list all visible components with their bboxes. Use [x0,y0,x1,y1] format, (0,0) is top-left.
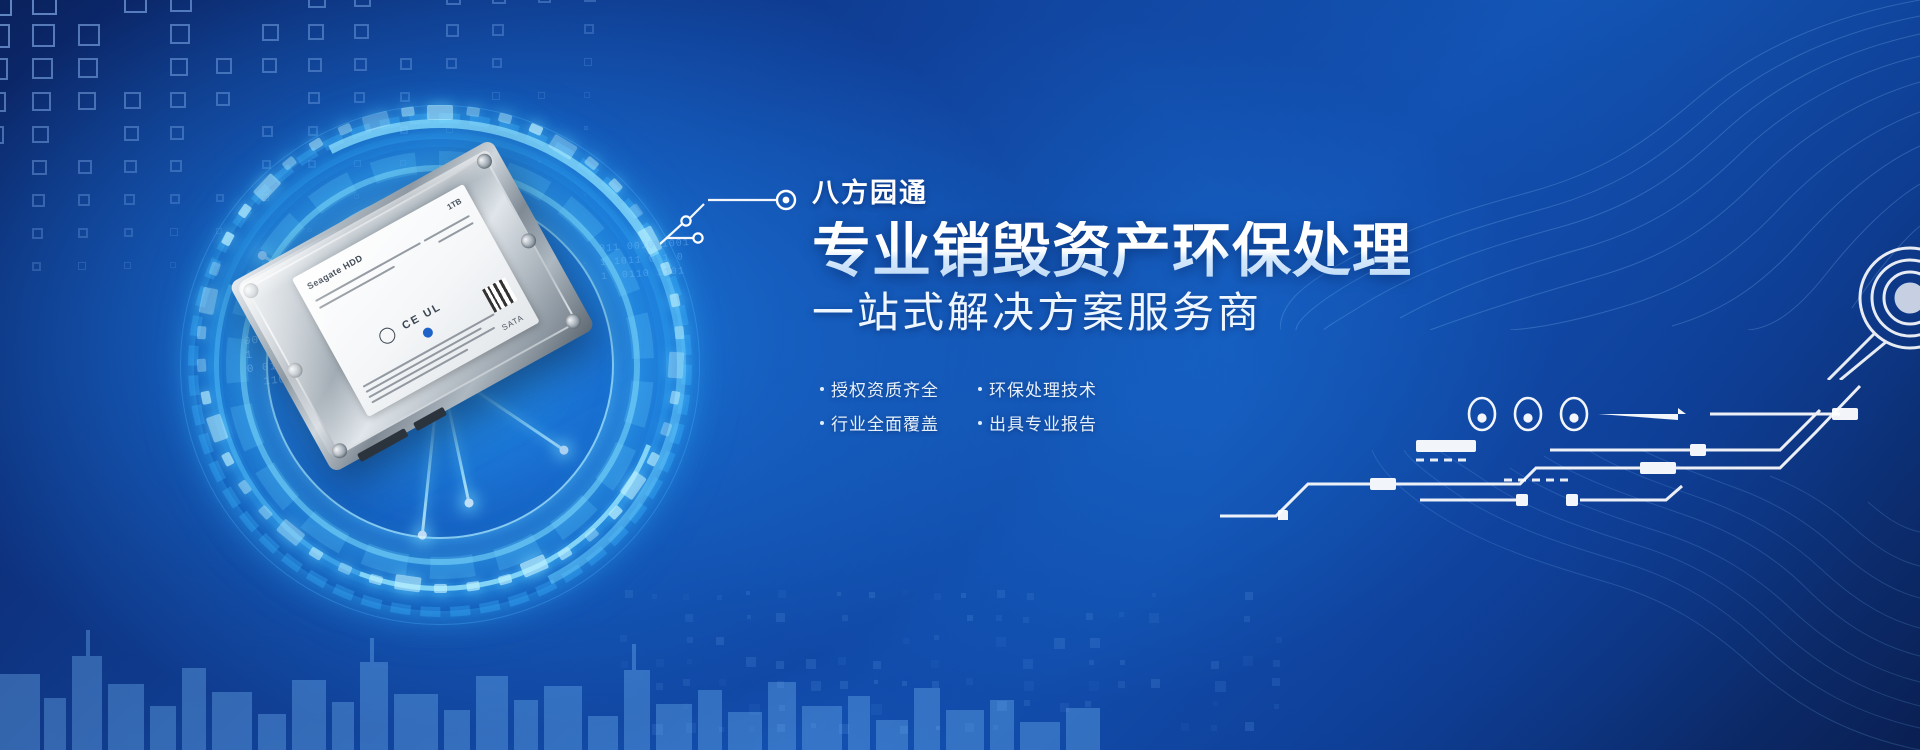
pixel-square [902,590,907,595]
headline: 专业销毁资产环保处理 [812,221,1572,282]
pixel-square [900,726,908,734]
connector-line-graphic [660,178,820,248]
pixel-square [656,659,664,667]
grid-square [492,92,500,100]
grid-square [262,58,277,73]
pixel-square [719,679,726,686]
pixel-square [965,723,974,732]
grid-square [400,92,410,102]
grid-square [0,58,8,80]
bullet-dot-icon [978,421,982,425]
pixel-square [717,595,722,600]
grid-square [32,262,41,271]
grid-square [354,24,369,39]
grid-square [446,0,461,5]
pixel-square [1181,723,1189,731]
pixel-square [687,659,692,664]
subheadline: 一站式解决方案服务商 [812,290,1572,336]
disc-ring-graphic [1820,240,1920,380]
pixel-square [842,615,848,621]
grid-square [308,24,324,40]
pixel-square [1152,593,1156,597]
bullet-dot-icon [820,387,824,391]
pixel-square [652,724,663,735]
feature-bullet-2-label: 环保处理技术 [989,376,1097,401]
pixel-square [869,592,875,598]
pixel-square [1245,592,1253,600]
pixel-square [1119,612,1124,617]
grid-square [124,262,131,269]
grid-square [170,262,176,268]
grid-square [32,58,53,79]
grid-square [446,58,457,69]
grid-square [0,0,12,16]
ring-tick [196,326,206,340]
pixel-square [838,657,846,665]
pixel-square [932,681,939,688]
pixel-square [934,593,941,600]
feature-bullet-3: 行业全面覆盖 [820,407,960,439]
pixel-square [746,591,750,595]
grid-square [308,58,322,72]
pixel-square [778,590,786,598]
pixel-square [996,615,1002,621]
ring-tick [466,106,480,117]
pixel-square [683,679,690,686]
grid-square [124,228,133,237]
pixel-square [686,723,696,733]
ring-tick [466,581,480,592]
pixel-square [777,681,784,688]
ring-tick [427,105,453,120]
pixel-square [719,727,724,732]
grid-square [584,58,592,66]
grid-square [170,24,190,44]
grid-square [124,92,141,109]
grid-square [262,24,279,41]
pixel-square [625,590,633,598]
pixel-square [1276,637,1282,643]
pixel-square [683,703,689,709]
pixel-square [811,681,821,691]
pixel-square [1086,613,1093,620]
grid-square [124,126,139,141]
grid-square [0,126,4,144]
pixel-square [874,680,878,684]
feature-bullet-4: 出具专业报告 [978,407,1118,439]
pixel-square [685,614,693,622]
pixel-square [652,594,657,599]
pixel-square [1089,660,1094,665]
pixel-square [993,725,998,730]
pixel-square [716,637,724,645]
grid-square [32,228,43,239]
pixel-square [1211,661,1219,669]
grid-square [78,92,96,110]
pixel-square [936,726,940,730]
grid-square [216,58,232,74]
ring-tick [674,326,684,340]
ring-tick [196,359,206,373]
grid-square [0,24,10,48]
pixel-square [1023,617,1029,623]
pixel-square [1213,701,1218,706]
bullet-dot-icon [978,387,982,391]
feature-bullet-1: 授权资质齐全 [820,373,960,405]
pixel-square [1024,681,1034,691]
pixel-square [1024,700,1030,706]
pixel-square [776,613,785,622]
pixel-square [1085,701,1091,707]
ring-tick [669,293,680,308]
grid-square [78,160,92,174]
grid-square [400,58,412,70]
pixel-square [621,661,628,668]
ring-tick [200,390,211,405]
bullet-dot-icon [820,421,824,425]
feature-bullet-4-label: 出具专业报告 [989,410,1097,435]
pixel-dot-field [620,590,1320,750]
qr-code-icon [482,277,517,312]
pixel-square [839,724,849,734]
pixel-square [1215,681,1226,692]
grid-square [170,58,188,76]
pixel-square [683,594,689,600]
grid-square [354,58,367,71]
pixel-square [966,678,973,685]
feature-bullet-2: 环保处理技术 [978,373,1118,405]
pixel-square [746,657,756,667]
grid-square [538,0,551,3]
ring-tick [669,390,680,405]
grid-square [354,92,365,103]
grid-square [78,194,90,206]
pixel-square [1273,660,1280,667]
pixel-square [749,704,760,715]
grid-square [492,0,506,4]
grid-square [32,0,57,15]
pixel-square [1274,704,1279,709]
grid-square [32,126,49,143]
pixel-square [776,661,784,669]
grid-square [124,0,147,13]
pixel-square [1272,678,1280,686]
ring-tick [668,352,685,379]
grid-square [170,194,180,204]
hdd-label-interface: SATA [500,313,525,332]
pixel-square [1027,593,1034,600]
grid-square [32,24,55,47]
grid-square [32,194,45,207]
grid-square [32,160,47,175]
pixel-square [967,615,973,621]
grid-square [78,58,98,78]
pixel-square [1023,659,1033,669]
pixel-square [996,637,1006,647]
pixel-square [747,615,751,619]
pixel-square [871,704,882,715]
pixel-square [1089,681,1099,691]
pixel-square [656,683,663,690]
pixel-square [1060,703,1069,712]
pixel-square [1090,638,1100,648]
banner-copy-block: 八方园通 专业销毁资产环保处理 一站式解决方案服务商 授权资质齐全 环保处理技术… [812,180,1572,439]
grid-square [308,92,320,104]
pixel-square [997,701,1007,711]
promo-banner: 0010 1001 100 1 1011 001 1 0 0110 111 0 … [0,0,1920,750]
grid-square [124,160,137,173]
grid-square [446,24,459,37]
grid-square [170,0,192,12]
pixel-square [749,726,755,732]
pixel-square [1243,656,1253,666]
pixel-square [1151,679,1160,688]
grid-square [0,92,6,112]
pixel-square [1149,613,1159,623]
grid-square [78,262,86,270]
pixel-square [620,635,627,642]
pixel-square [1245,722,1254,731]
grid-square [354,0,371,7]
ring-tick [434,584,447,593]
pixel-square [931,660,939,668]
grid-square [584,92,590,98]
feature-bullet-3-label: 行业全面覆盖 [831,410,939,435]
pixel-square [934,635,939,640]
pixel-square [961,593,966,598]
pixel-square [687,637,693,643]
grid-square [78,228,88,238]
grid-square [538,92,545,99]
pixel-square [837,592,841,596]
pixel-square [840,681,848,689]
pixel-square [806,659,816,669]
ul-mark-icon [376,325,398,347]
hdd-label-capacity: 1TB [446,197,464,212]
grid-square [584,0,596,2]
grid-square [492,58,502,68]
pixel-square [1211,725,1217,731]
ce-mark-icon: CE UL [400,301,443,332]
pixel-square [903,638,909,644]
pixel-square [1054,638,1065,649]
pixel-square [1120,660,1125,665]
pixel-square [779,705,785,711]
pixel-square [1244,616,1250,622]
grid-square [492,24,504,36]
grid-square [124,194,135,205]
pixel-square [1118,681,1125,688]
grid-square [170,228,178,236]
feature-bullet-1-label: 授权资质齐全 [831,376,939,401]
feature-bullet-list: 授权资质齐全 环保处理技术 行业全面覆盖 出具专业报告 [820,373,1572,439]
pixel-square [997,590,1005,598]
grid-square [78,24,100,46]
pixel-square [811,723,816,728]
pixel-square [902,681,907,686]
grid-square [32,92,51,111]
pixel-square [873,661,881,669]
brand-name: 八方园通 [812,180,1572,207]
pixel-square [777,724,785,732]
grid-square [584,24,594,34]
ring-tick [400,106,414,117]
grid-square [308,0,326,8]
